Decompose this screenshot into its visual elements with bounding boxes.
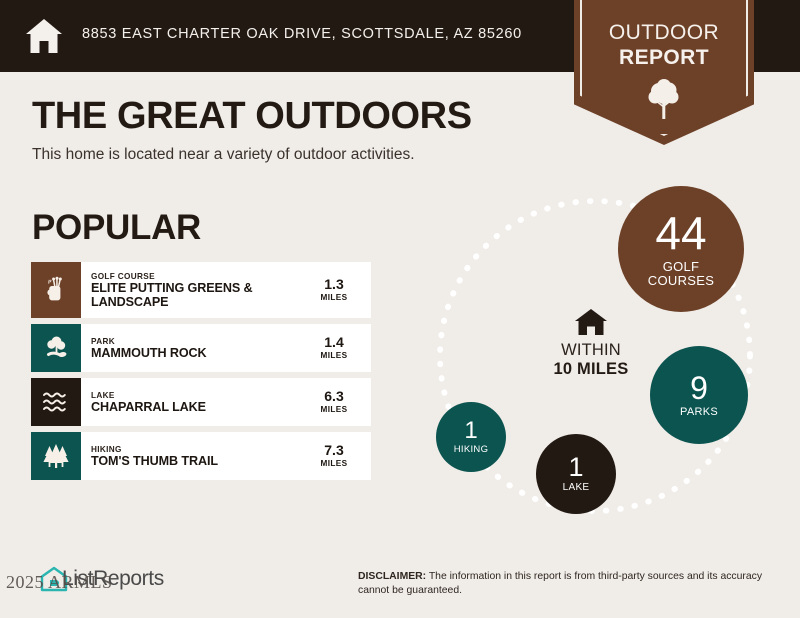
home-icon [24, 17, 64, 55]
bubble-label: GOLF COURSES [648, 260, 714, 287]
list-item-text: HIKING TOM'S THUMB TRAIL [81, 432, 303, 480]
distance-unit: MILES [320, 404, 347, 415]
badge-text: OUTDOOR REPORT [574, 20, 754, 70]
disclaimer-label: DISCLAIMER: [358, 571, 426, 582]
bubble-count: 9 [690, 372, 708, 404]
page-subtitle: This home is located near a variety of o… [32, 146, 415, 164]
bubble-label: PARKS [680, 407, 718, 419]
center-line-1: WITHIN [536, 341, 646, 360]
bubble-hiking[interactable]: 1 HIKING [436, 402, 506, 472]
home-icon [574, 308, 608, 336]
badge-line-1: OUTDOOR [609, 21, 719, 44]
distance-unit: MILES [320, 350, 347, 361]
center-line-2: 10 MILES [536, 360, 646, 379]
list-item-icon-tile [31, 324, 81, 372]
bubble-label: LAKE [563, 483, 590, 494]
bubble-label-line-2: COURSES [648, 273, 714, 288]
distance-unit: MILES [320, 292, 347, 303]
diagram-center: WITHIN 10 MILES [536, 308, 646, 379]
list-item-icon-tile [31, 262, 81, 318]
list-item-name: TOM'S THUMB TRAIL [91, 455, 303, 469]
bubble-count: 1 [464, 419, 477, 443]
tree-icon [646, 78, 682, 120]
list-item-distance: 1.3 MILES [303, 262, 371, 318]
list-item-text: LAKE CHAPARRAL LAKE [81, 378, 303, 426]
bubble-lake[interactable]: 1 LAKE [536, 434, 616, 514]
distance-value: 7.3 [324, 443, 343, 458]
park-tree-icon [41, 333, 71, 363]
list-item[interactable]: HIKING TOM'S THUMB TRAIL 7.3 MILES [31, 432, 371, 480]
list-item-text: PARK MAMMOUTH ROCK [81, 324, 303, 372]
list-item-icon-tile [31, 432, 81, 480]
bubble-golf-courses[interactable]: 44 GOLF COURSES [618, 186, 744, 312]
list-item-icon-tile [31, 378, 81, 426]
property-address: 8853 EAST CHARTER OAK DRIVE, SCOTTSDALE,… [82, 26, 522, 42]
bubble-count: 44 [655, 210, 706, 256]
list-item-distance: 6.3 MILES [303, 378, 371, 426]
page-title: THE GREAT OUTDOORS [32, 95, 472, 138]
list-item-name: ELITE PUTTING GREENS & LANDSCAPE [91, 282, 303, 309]
mls-watermark: 2025 ARMLS [6, 572, 113, 593]
list-item[interactable]: LAKE CHAPARRAL LAKE 6.3 MILES [31, 378, 371, 426]
distance-value: 1.3 [324, 277, 343, 292]
list-item-text: GOLF COURSE ELITE PUTTING GREENS & LANDS… [81, 262, 303, 318]
list-item-distance: 1.4 MILES [303, 324, 371, 372]
popular-heading: POPULAR [32, 208, 201, 248]
popular-list: GOLF COURSE ELITE PUTTING GREENS & LANDS… [31, 262, 371, 486]
outdoor-report-page: 8853 EAST CHARTER OAK DRIVE, SCOTTSDALE,… [0, 0, 800, 618]
bubble-parks[interactable]: 9 PARKS [650, 346, 748, 444]
list-item[interactable]: PARK MAMMOUTH ROCK 1.4 MILES [31, 324, 371, 372]
bubble-label: HIKING [454, 445, 489, 455]
list-item-name: CHAPARRAL LAKE [91, 401, 303, 415]
within-10-miles-diagram: WITHIN 10 MILES 44 GOLF COURSES 9 PARKS … [418, 178, 800, 538]
golf-bag-icon [41, 275, 71, 305]
disclaimer: DISCLAIMER: The information in this repo… [358, 570, 778, 598]
badge-line-2: REPORT [574, 45, 754, 70]
distance-unit: MILES [320, 458, 347, 469]
distance-value: 1.4 [324, 335, 343, 350]
water-waves-icon [41, 389, 71, 415]
bubble-count: 1 [568, 454, 583, 481]
distance-value: 6.3 [324, 389, 343, 404]
pine-trees-icon [41, 442, 71, 470]
list-item[interactable]: GOLF COURSE ELITE PUTTING GREENS & LANDS… [31, 262, 371, 318]
list-item-name: MAMMOUTH ROCK [91, 347, 303, 361]
list-item-distance: 7.3 MILES [303, 432, 371, 480]
outdoor-report-badge: OUTDOOR REPORT [574, 0, 754, 145]
